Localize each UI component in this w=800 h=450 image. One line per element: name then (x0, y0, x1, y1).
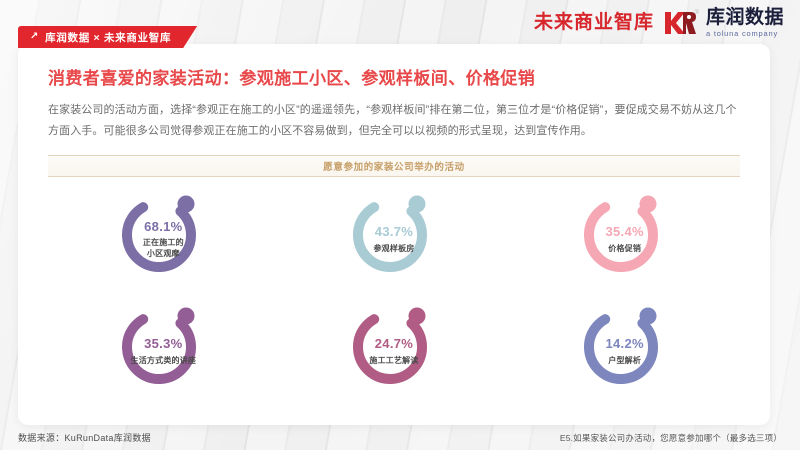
registered-trademark-icon: ® (695, 10, 699, 16)
donut-ring-graphic (566, 183, 684, 295)
donut-chart-5: 24.7%施工工艺解读 (335, 295, 453, 407)
ribbon-label: 库润数据 × 未来商业智库 (45, 30, 171, 45)
partner-brand-name: 未来商业智库 (534, 13, 654, 32)
donut-chart-4: 35.3%生活方式类的讲座 (104, 295, 222, 407)
slide-footer: 数据来源：KuRunData库润数据 E5.如果家装公司办活动，您愿意参加哪个（… (0, 425, 800, 450)
donut-ring-graphic (335, 183, 453, 295)
company-name: 库润数据 (706, 8, 784, 27)
data-source-label: 数据来源：KuRunData库润数据 (18, 431, 151, 444)
donut-chart-1: 68.1%正在施工的小区观摩 (104, 183, 222, 295)
donut-chart-grid: 68.1%正在施工的小区观摩43.7%参观样板房35.4%价格促销35.3%生活… (48, 183, 740, 407)
chart-title-bar: 愿意参加的家装公司举办的活动 (48, 155, 740, 177)
chart-title: 愿意参加的家装公司举办的活动 (323, 159, 464, 173)
donut-accent-dot (408, 195, 425, 212)
donut-chart-2: 43.7%参观样板房 (335, 183, 453, 295)
donut-ring-graphic (566, 295, 684, 407)
arrow-up-right-icon: ↗ (30, 31, 39, 42)
donut-accent-dot (178, 307, 195, 324)
donut-ring-graphic (335, 295, 453, 407)
donut-accent-dot (408, 307, 425, 324)
brand-lockup: 未来商业智库 ® 库润数据 a toluna company (534, 8, 784, 38)
kr-logo-icon: ® (663, 9, 697, 37)
page-title: 消费者喜爱的家装活动：参观施工小区、参观样板间、价格促销 (48, 64, 740, 89)
donut-accent-dot (178, 195, 195, 212)
donut-chart-6: 14.2%户型解析 (566, 295, 684, 407)
chart-panel: 愿意参加的家装公司举办的活动 68.1%正在施工的小区观摩43.7%参观样板房3… (48, 155, 740, 407)
partnership-ribbon: ↗ 库润数据 × 未来商业智库 (18, 26, 197, 48)
body-paragraph: 在家装公司的活动方面，选择“参观正在施工的小区”的遥遥领先，“参观样板间”排在第… (48, 100, 740, 143)
donut-ring-graphic (104, 183, 222, 295)
donut-ring-graphic (104, 295, 222, 407)
donut-accent-dot (639, 307, 656, 324)
survey-question-label: E5.如果家装公司办活动，您愿意参加哪个（最多选三项） (560, 432, 782, 444)
company-tagline: a toluna company (706, 30, 784, 38)
slide-card: 消费者喜爱的家装活动：参观施工小区、参观样板间、价格促销 在家装公司的活动方面，… (18, 44, 770, 425)
donut-accent-dot (639, 195, 656, 212)
donut-chart-3: 35.4%价格促销 (566, 183, 684, 295)
